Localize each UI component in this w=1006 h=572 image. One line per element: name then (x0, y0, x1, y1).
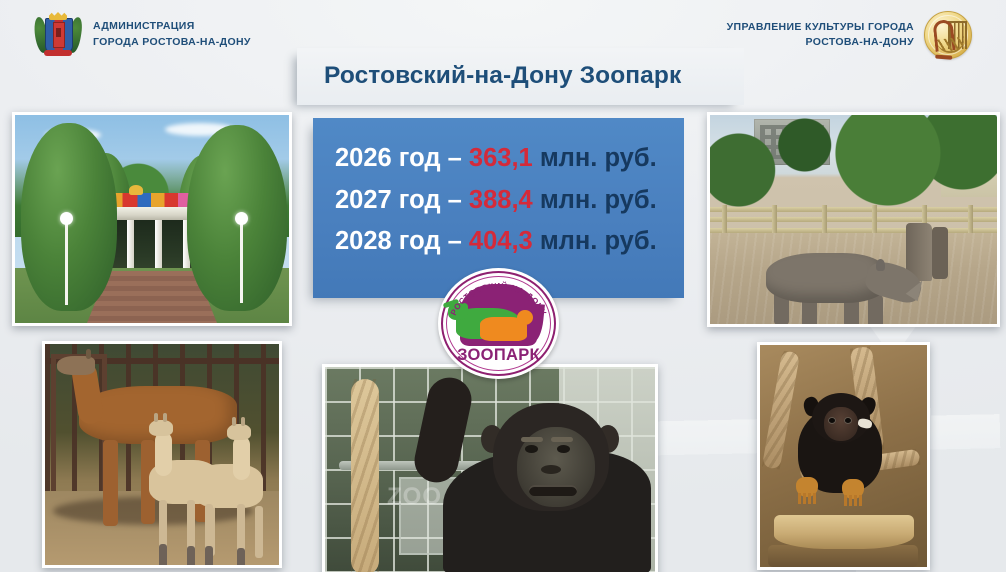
photo-guanacos (42, 341, 282, 568)
budget-value: 404,3 (469, 227, 533, 255)
slide-canvas: АДМИНИСТРАЦИЯ ГОРОДА РОСТОВА-НА-ДОНУ УПР… (0, 0, 1006, 572)
photo-tamarin (757, 342, 930, 570)
administration-line-1: АДМИНИСТРАЦИЯ (93, 19, 251, 34)
photo-rhino (707, 112, 1000, 327)
zoo-logo-arc-label: РОСТОВСКИЙ-НА-ДОНУ (449, 280, 548, 318)
budget-row: 2028 год – 404,3 млн. руб. (335, 225, 657, 258)
svg-text:РОСТОВСКИЙ-НА-ДОНУ: РОСТОВСКИЙ-НА-ДОНУ (449, 280, 548, 318)
zoo-logo-word: ЗООПАРК (438, 346, 559, 365)
administration-line-2: ГОРОДА РОСТОВА-НА-ДОНУ (93, 35, 251, 50)
culture-department-seal-icon (924, 11, 972, 59)
header-administration-block: АДМИНИСТРАЦИЯ ГОРОДА РОСТОВА-НА-ДОНУ (34, 11, 251, 58)
budget-dash: – (448, 144, 462, 172)
budget-year: 2026 год (335, 144, 441, 172)
zoo-logo-arc-text: РОСТОВСКИЙ-НА-ДОНУ (438, 274, 559, 334)
budget-unit: млн. руб. (540, 144, 657, 172)
administration-title: АДМИНИСТРАЦИЯ ГОРОДА РОСТОВА-НА-ДОНУ (93, 19, 251, 49)
culture-line-2: РОСТОВА-НА-ДОНУ (727, 35, 914, 50)
budget-year: 2027 год (335, 186, 441, 214)
budget-row: 2026 год – 363,1 млн. руб. (335, 142, 657, 175)
culture-line-1: УПРАВЛЕНИЕ КУЛЬТУРЫ ГОРОДА (727, 20, 914, 35)
budget-dash: – (448, 227, 462, 255)
zoo-logo: РОСТОВСКИЙ-НА-ДОНУ ЗООПАРК (438, 268, 559, 379)
page-title: Ростовский-на-Дону Зоопарк (324, 62, 681, 90)
budget-row: 2027 год – 388,4 млн. руб. (335, 184, 657, 217)
budget-value: 388,4 (469, 186, 533, 214)
budget-year: 2028 год (335, 227, 441, 255)
culture-department-title: УПРАВЛЕНИЕ КУЛЬТУРЫ ГОРОДА РОСТОВА-НА-ДО… (727, 20, 914, 50)
budget-value: 363,1 (469, 144, 533, 172)
budget-unit: млн. руб. (540, 186, 657, 214)
photo-zoo-entrance (12, 112, 292, 326)
header-culture-block: УПРАВЛЕНИЕ КУЛЬТУРЫ ГОРОДА РОСТОВА-НА-ДО… (727, 11, 972, 59)
photo-chimpanzee: ZOO (322, 364, 658, 572)
rostov-coat-of-arms-icon (34, 11, 82, 58)
hanging-rope (351, 379, 379, 572)
budget-unit: млн. руб. (540, 227, 657, 255)
slide-title-banner: Ростовский-на-Дону Зоопарк (297, 48, 744, 105)
budget-dash: – (448, 186, 462, 214)
